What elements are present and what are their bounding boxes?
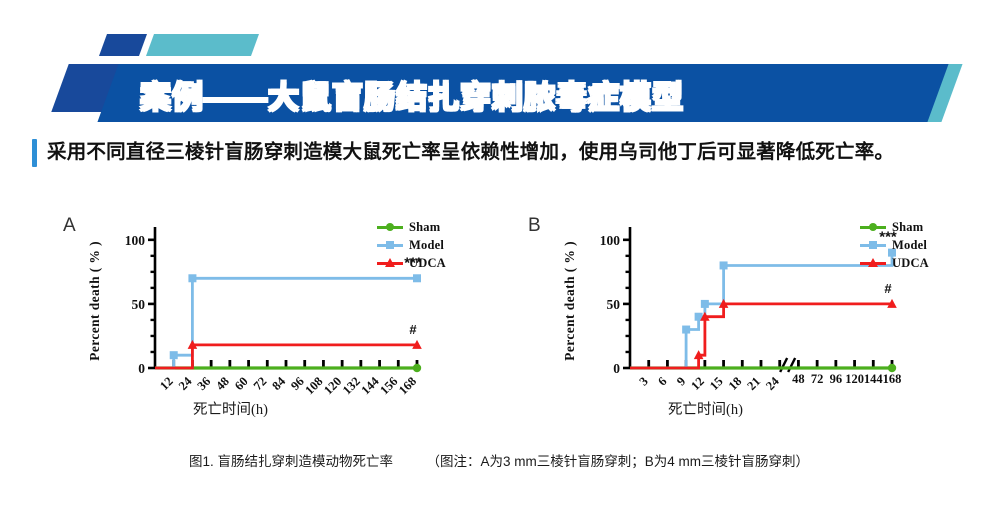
x-axis-tick-label: 48 [213, 374, 232, 393]
x-axis-tick-label: 60 [232, 374, 251, 393]
y-axis-tick-label: 100 [600, 233, 621, 248]
figure-caption-note: （图注：A为3 mm三棱针盲肠穿刺；B为4 mm三棱针盲肠穿刺） [427, 454, 810, 469]
header-banner: 案例——大鼠盲肠结扎穿刺脓毒症模型 [0, 12, 998, 130]
legend-item-sham[interactable]: Sham [377, 219, 446, 235]
x-axis-tick-label: 168 [396, 374, 419, 397]
data-point-model [170, 351, 178, 359]
y-axis-tick-label: 0 [138, 361, 145, 376]
x-axis-tick-label: 144 [864, 372, 884, 386]
legend-item-label: Sham [409, 220, 440, 235]
subtitle-accent-bar [32, 139, 37, 167]
legend-item-udca[interactable]: UDCA [377, 255, 446, 271]
series-line-model [155, 278, 417, 368]
y-axis-tick-label: 50 [132, 297, 146, 312]
figure-caption-main: 图1. 盲肠结扎穿刺造模动物死亡率 [189, 454, 393, 469]
x-axis-tick-label: 120 [845, 372, 864, 386]
legend-item-sham[interactable]: Sham [860, 219, 929, 235]
data-point-model [413, 274, 421, 282]
legend-marker-triangle-icon [377, 257, 403, 269]
x-axis-tick-label: 15 [707, 374, 726, 393]
panel-b-legend: ShamModelUDCA [860, 219, 929, 273]
axis-break-mark [780, 358, 787, 372]
panel-a-plot: 0501001224364860728496108120132144156168… [55, 205, 515, 435]
x-axis-tick-label: 72 [811, 372, 824, 386]
significance-marker: # [884, 281, 892, 296]
y-axis-tick-label: 100 [125, 233, 146, 248]
panel-b-x-axis-label: 死亡时间(h) [668, 398, 743, 419]
legend-item-label: UDCA [409, 256, 446, 271]
subtitle-block: 采用不同直径三棱针盲肠穿刺造模大鼠死亡率呈依赖性增加，使用乌司他丁后可显著降低死… [32, 139, 977, 167]
legend-marker-triangle-icon [860, 257, 886, 269]
data-point-sham [888, 364, 896, 372]
significance-marker: # [409, 322, 417, 337]
x-axis-tick-label: 21 [744, 374, 763, 393]
subtitle-text: 采用不同直径三棱针盲肠穿刺造模大鼠死亡率呈依赖性增加，使用乌司他丁后可显著降低死… [47, 139, 894, 167]
data-point-model [682, 326, 690, 334]
x-axis-tick-label: 12 [157, 374, 176, 393]
data-point-model [720, 261, 728, 269]
legend-item-model[interactable]: Model [860, 237, 929, 253]
panel-a-x-axis-label: 死亡时间(h) [193, 398, 268, 419]
legend-marker-circle-icon [860, 221, 886, 233]
x-axis-tick-label: 168 [883, 372, 902, 386]
x-axis-tick-label: 96 [830, 372, 843, 386]
y-axis-tick-label: 0 [613, 361, 620, 376]
series-line-udca [630, 304, 892, 368]
x-axis-tick-label: 12 [688, 374, 707, 393]
x-axis-tick-label: 36 [195, 374, 214, 393]
header-decoration-square [99, 34, 147, 56]
legend-marker-circle-icon [377, 221, 403, 233]
x-axis-tick-label: 72 [251, 374, 270, 393]
y-axis-tick-label: 50 [607, 297, 621, 312]
x-axis-tick-label: 24 [176, 374, 195, 393]
legend-item-label: UDCA [892, 256, 929, 271]
legend-item-model[interactable]: Model [377, 237, 446, 253]
legend-marker-square-icon [377, 239, 403, 251]
header-decoration-teal-bar [146, 34, 259, 56]
legend-item-label: Model [892, 238, 927, 253]
data-point-model [188, 274, 196, 282]
x-axis-tick-label: 9 [674, 374, 688, 388]
chart-panel-b: B Percent death ( % ) 050100369121518212… [520, 205, 990, 435]
axis-break-mark [788, 358, 795, 372]
x-axis-tick-label: 3 [637, 374, 651, 388]
legend-marker-square-icon [860, 239, 886, 251]
x-axis-tick-label: 84 [269, 374, 288, 393]
page-title: 案例——大鼠盲肠结扎穿刺脓毒症模型 [140, 70, 840, 118]
x-axis-tick-label: 6 [655, 374, 669, 388]
panel-a-legend: ShamModelUDCA [377, 219, 446, 273]
chart-panel-a: A Percent death ( % ) 050100122436486072… [55, 205, 515, 435]
data-point-model [701, 300, 709, 308]
series-line-model [630, 253, 892, 368]
data-point-sham [413, 364, 421, 372]
legend-item-label: Model [409, 238, 444, 253]
x-axis-tick-label: 18 [726, 374, 745, 393]
legend-item-label: Sham [892, 220, 923, 235]
legend-item-udca[interactable]: UDCA [860, 255, 929, 271]
x-axis-tick-label: 24 [763, 374, 782, 393]
x-axis-tick-label: 48 [792, 372, 805, 386]
figure-caption: 图1. 盲肠结扎穿刺造模动物死亡率 （图注：A为3 mm三棱针盲肠穿刺；B为4 … [0, 450, 998, 470]
